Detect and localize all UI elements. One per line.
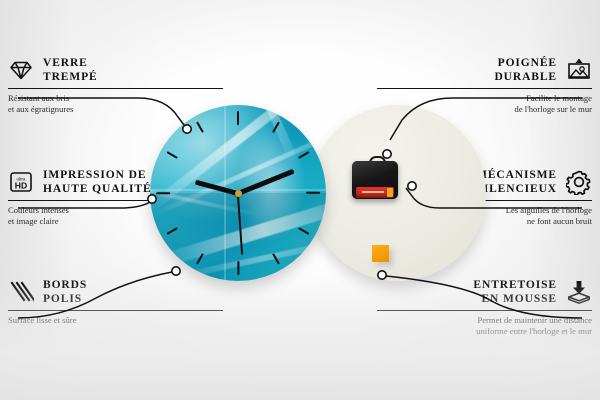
feature-description: Résistant aux bris et aux égratignures bbox=[8, 93, 223, 115]
hour-marker bbox=[237, 261, 239, 275]
clock-mechanism bbox=[352, 157, 398, 199]
feature-title: BORDS POLIS bbox=[43, 278, 87, 306]
feature-bords-polis: BORDS POLIS Surface lisse et sûre bbox=[8, 278, 223, 326]
hour-marker bbox=[156, 192, 170, 194]
foam-spacer bbox=[372, 245, 389, 262]
hanging-frame-icon bbox=[566, 57, 592, 83]
battery-label bbox=[362, 191, 384, 193]
feature-title: VERRE TREMPÉ bbox=[43, 56, 98, 84]
feature-title: ENTRETOISE EN MOUSSE bbox=[473, 278, 557, 306]
feature-header: VERRE TREMPÉ bbox=[8, 56, 223, 84]
mechanism-housing bbox=[352, 161, 398, 199]
foam-spacer-icon bbox=[566, 279, 592, 305]
feature-divider bbox=[8, 88, 223, 89]
feature-divider bbox=[377, 88, 592, 89]
feature-title: MÉCANISME SILENCIEUX bbox=[476, 168, 557, 196]
feature-header: POIGNÉE DURABLE bbox=[377, 56, 592, 84]
feature-verre-trempe: VERRE TREMPÉ Résistant aux bris et aux é… bbox=[8, 56, 223, 115]
feature-title: POIGNÉE DURABLE bbox=[494, 56, 557, 84]
ultra-hd-icon: ultra HD bbox=[8, 169, 34, 195]
hour-marker bbox=[237, 111, 239, 125]
hour-marker bbox=[166, 151, 177, 159]
clock-back-face bbox=[310, 105, 486, 281]
feature-description: Permet de maintenir une distance uniform… bbox=[377, 315, 592, 337]
infographic-canvas: VERRE TREMPÉ Résistant aux bris et aux é… bbox=[0, 0, 600, 400]
clock-front-face bbox=[150, 105, 326, 281]
feature-title: IMPRESSION DE HAUTE QUALITÉ bbox=[43, 168, 152, 196]
svg-text:HD: HD bbox=[15, 181, 27, 191]
hands-center-cap bbox=[235, 190, 242, 197]
hour-marker bbox=[196, 121, 204, 132]
feature-header: BORDS POLIS bbox=[8, 278, 223, 306]
feature-divider bbox=[377, 310, 592, 311]
diamond-icon bbox=[8, 57, 34, 83]
polished-edges-icon bbox=[8, 279, 34, 305]
battery-terminal bbox=[387, 188, 393, 197]
gear-icon bbox=[566, 169, 592, 195]
battery bbox=[356, 187, 394, 198]
feature-description: Surface lisse et sûre bbox=[8, 315, 223, 326]
feature-header: ENTRETOISE EN MOUSSE bbox=[377, 278, 592, 306]
feature-divider bbox=[8, 310, 223, 311]
feature-entretoise-en-mousse: ENTRETOISE EN MOUSSE Permet de maintenir… bbox=[377, 278, 592, 337]
